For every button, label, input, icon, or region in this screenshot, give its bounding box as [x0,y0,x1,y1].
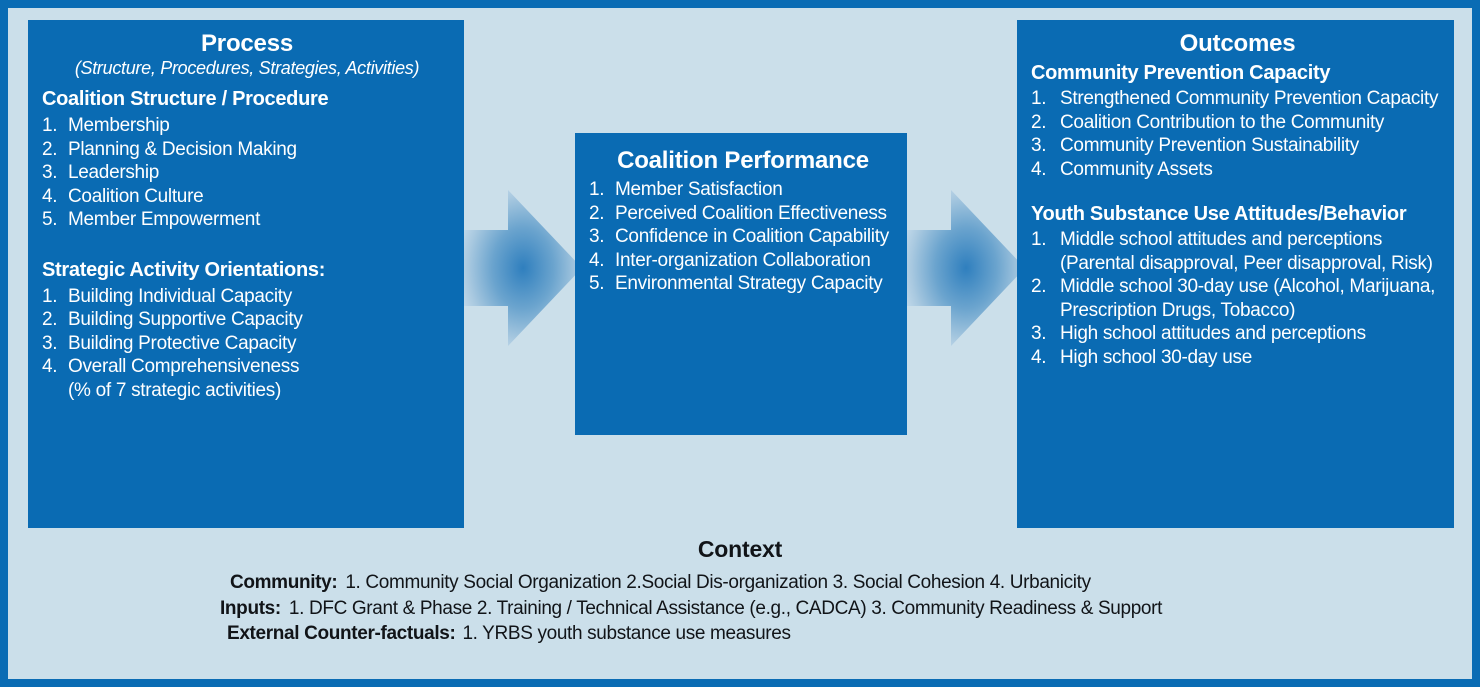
list-text: Member Empowerment [68,209,260,230]
list-text: Confidence in Coalition Capability [615,226,889,247]
context-section: Context Community: 1. Community Social O… [8,536,1472,647]
arrow-performance-to-outcomes [907,190,1025,346]
list-number: 5. [42,208,64,232]
list-item: 1.Building Individual Capacity [42,285,452,309]
process-section1-header: Coalition Structure / Procedure [42,86,452,112]
process-section2-list: 1.Building Individual Capacity 2.Buildin… [42,285,452,403]
list-text: Building Individual Capacity [68,286,292,307]
arrow-process-to-performance [464,190,582,346]
list-item: 3.Leadership [42,161,452,185]
list-number: 4. [1031,158,1056,182]
panel-process: Process (Structure, Procedures, Strategi… [28,20,464,528]
list-number: 5. [589,272,611,296]
list-item: 3.High school attitudes and perceptions [1031,322,1444,346]
list-text: Community Assets [1060,159,1213,180]
process-title: Process [42,30,452,58]
context-row-label: Inputs: [220,596,281,622]
list-number: 1. [1031,228,1056,252]
context-row-label: External Counter-factuals: [227,621,455,647]
context-row-community: Community: 1. Community Social Organizat… [230,570,1091,596]
process-subtitle: (Structure, Procedures, Strategies, Acti… [42,58,452,79]
list-number: 1. [42,114,64,138]
diagram-frame: Process (Structure, Procedures, Strategi… [8,8,1472,679]
list-text: Inter-organization Collaboration [615,250,871,271]
list-number: 3. [1031,134,1056,158]
list-item: 3.Community Prevention Sustainability [1031,134,1444,158]
list-number: 2. [1031,111,1056,135]
list-item: 3.Building Protective Capacity [42,332,452,356]
list-item: 3.Confidence in Coalition Capability [589,225,897,249]
list-text: Perceived Coalition Effectiveness [615,203,887,224]
list-item: 5.Environmental Strategy Capacity [589,272,897,296]
panel-outcomes: Outcomes Community Prevention Capacity 1… [1017,20,1454,528]
list-number: 3. [1031,322,1056,346]
performance-title: Coalition Performance [589,147,897,175]
list-number: 2. [42,308,64,332]
list-item: 4.Overall Comprehensiveness (% of 7 stra… [42,355,452,402]
list-text: Leadership [68,162,159,183]
context-rows: Community: 1. Community Social Organizat… [8,570,1472,647]
list-number: 1. [42,285,64,309]
list-text: High school 30-day use [1060,347,1252,368]
context-row-value: 1. Community Social Organization 2.Socia… [345,570,1090,596]
performance-list: 1.Member Satisfaction 2.Perceived Coalit… [589,178,897,296]
list-item: 4.Coalition Culture [42,185,452,209]
list-text: Community Prevention Sustainability [1060,135,1359,156]
process-section2-header: Strategic Activity Orientations: [42,257,452,283]
list-number: 4. [42,355,64,379]
list-number: 2. [1031,275,1056,299]
list-number: 1. [589,178,611,202]
list-item: 2.Planning & Decision Making [42,138,452,162]
list-item: 5.Member Empowerment [42,208,452,232]
list-item: 1.Membership [42,114,452,138]
context-row-inputs: Inputs: 1. DFC Grant & Phase 2. Training… [220,596,1162,622]
list-text: Planning & Decision Making [68,139,297,160]
list-number: 4. [589,249,611,273]
list-text: Coalition Culture [68,186,203,207]
list-item: 1.Strengthened Community Prevention Capa… [1031,87,1444,111]
context-row-label: Community: [230,570,337,596]
list-item: 2.Middle school 30-day use (Alcohol, Mar… [1031,275,1444,322]
context-row-external-counter-factuals: External Counter-factuals: 1. YRBS youth… [227,621,791,647]
list-text: Member Satisfaction [615,179,782,200]
spacer [42,232,452,250]
list-text: Middle school attitudes and perceptions … [1060,229,1433,274]
outcomes-section2-header: Youth Substance Use Attitudes/Behavior [1031,201,1444,227]
list-text: Strengthened Community Prevention Capaci… [1060,88,1438,109]
list-text: Building Supportive Capacity [68,309,303,330]
list-item: 2.Coalition Contribution to the Communit… [1031,111,1444,135]
list-item: 2.Perceived Coalition Effectiveness [589,202,897,226]
list-text: Membership [68,115,170,136]
outcomes-section1-list: 1.Strengthened Community Prevention Capa… [1031,87,1444,181]
list-number: 4. [1031,346,1056,370]
list-number: 3. [589,225,611,249]
list-item: 4.Community Assets [1031,158,1444,182]
context-row-value: 1. YRBS youth substance use measures [462,621,790,647]
list-item: 4.Inter-organization Collaboration [589,249,897,273]
outcomes-title: Outcomes [1031,30,1444,58]
list-number: 4. [42,185,64,209]
list-item: 2.Building Supportive Capacity [42,308,452,332]
process-section1-list: 1.Membership 2.Planning & Decision Makin… [42,114,452,232]
diagram-stage: Process (Structure, Procedures, Strategi… [8,8,1472,679]
context-title: Context [8,536,1472,563]
list-number: 3. [42,161,64,185]
outcomes-section1-header: Community Prevention Capacity [1031,60,1444,86]
list-number: 3. [42,332,64,356]
list-number: 2. [589,202,611,226]
list-item: 1.Member Satisfaction [589,178,897,202]
list-number: 1. [1031,87,1056,111]
list-text: Overall Comprehensiveness (% of 7 strate… [68,356,299,401]
list-text: High school attitudes and perceptions [1060,323,1366,344]
spacer [1031,181,1444,199]
list-text: Middle school 30-day use (Alcohol, Marij… [1060,276,1435,321]
panel-coalition-performance: Coalition Performance 1.Member Satisfact… [575,133,907,435]
context-row-value: 1. DFC Grant & Phase 2. Training / Techn… [289,596,1162,622]
list-item: 1.Middle school attitudes and perception… [1031,228,1444,275]
list-text: Building Protective Capacity [68,333,296,354]
list-text: Coalition Contribution to the Community [1060,112,1384,133]
list-item: 4.High school 30-day use [1031,346,1444,370]
list-text: Environmental Strategy Capacity [615,273,882,294]
list-number: 2. [42,138,64,162]
outcomes-section2-list: 1.Middle school attitudes and perception… [1031,228,1444,369]
